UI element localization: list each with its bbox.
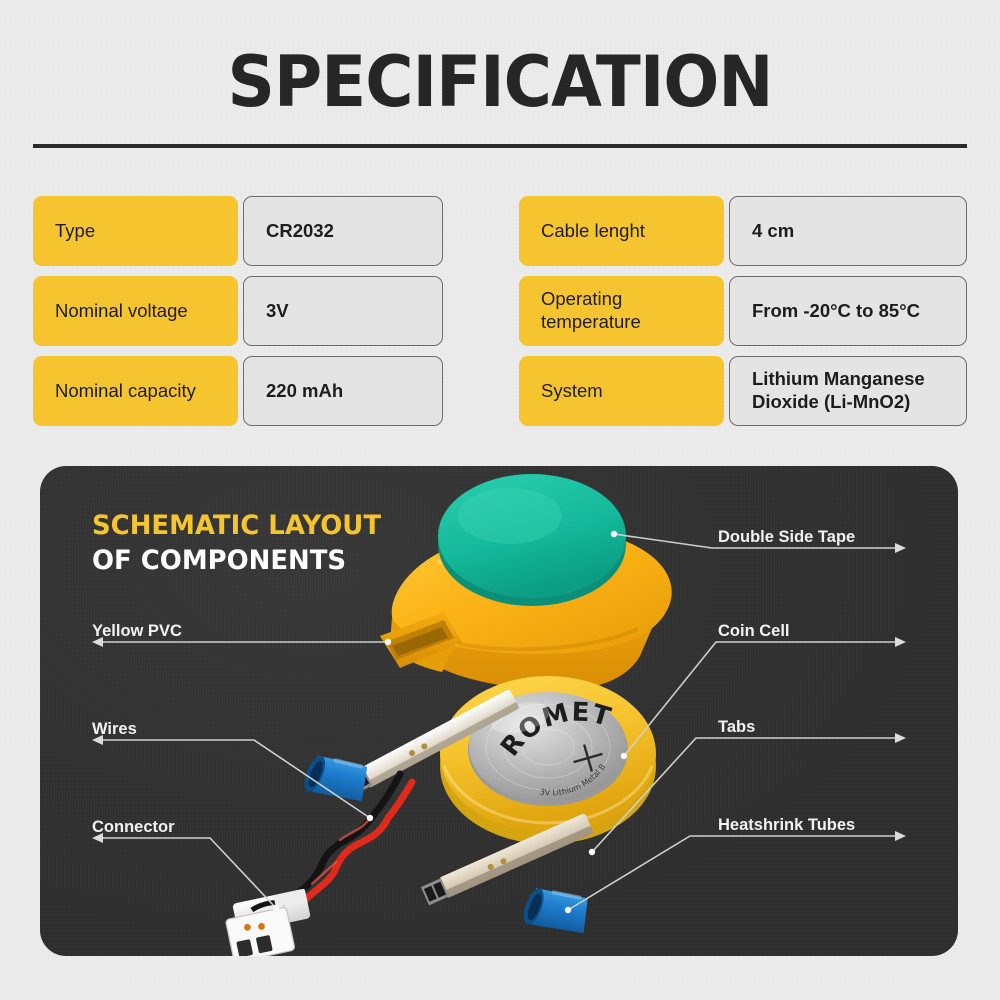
page-title: SPECIFICATION: [30, 46, 970, 120]
callout-label-wires: Wires: [92, 720, 137, 739]
callout-label-tabs: Tabs: [718, 718, 755, 737]
spec-label: Type: [33, 196, 238, 266]
table-row: System Lithium Manganese Dioxide (Li-MnO…: [519, 356, 967, 426]
schematic-panel: SCHEMATIC LAYOUT OF COMPONENTS: [40, 466, 958, 956]
infographic-page: SPECIFICATION Type CR2032 Nominal voltag…: [0, 0, 1000, 1000]
spec-value: CR2032: [243, 196, 443, 266]
spec-column-right: Cable lenght 4 cm Operating temperature …: [519, 196, 967, 426]
connector-part: [222, 889, 316, 956]
table-row: Nominal voltage 3V: [33, 276, 481, 346]
spec-label: Operating temperature: [519, 276, 724, 346]
table-row: Cable lenght 4 cm: [519, 196, 967, 266]
spec-label: System: [519, 356, 724, 426]
callout-label-heatshrink-tubes: Heatshrink Tubes: [718, 816, 855, 835]
callout-label-yellow-pvc: Yellow PVC: [92, 622, 182, 641]
callout-label-connector: Connector: [92, 818, 175, 837]
spec-label: Nominal voltage: [33, 276, 238, 346]
spec-value: From -20°C to 85°C: [729, 276, 967, 346]
spec-value: Lithium Manganese Dioxide (Li-MnO2): [729, 356, 967, 426]
spec-column-left: Type CR2032 Nominal voltage 3V Nominal c…: [33, 196, 481, 426]
spec-label: Cable lenght: [519, 196, 724, 266]
spec-value: 4 cm: [729, 196, 967, 266]
title-divider: [33, 144, 967, 148]
specification-table: Type CR2032 Nominal voltage 3V Nominal c…: [33, 196, 967, 426]
spec-label: Nominal capacity: [33, 356, 238, 426]
heatshrink-tube-lower-part: [520, 879, 596, 943]
table-row: Operating temperature From -20°C to 85°C: [519, 276, 967, 346]
spec-value: 3V: [243, 276, 443, 346]
table-row: Nominal capacity 220 mAh: [33, 356, 481, 426]
callout-label-double-side-tape: Double Side Tape: [718, 528, 855, 547]
table-row: Type CR2032: [33, 196, 481, 266]
double-side-tape-part: [438, 474, 626, 606]
callout-label-coin-cell: Coin Cell: [718, 622, 790, 641]
spec-value: 220 mAh: [243, 356, 443, 426]
